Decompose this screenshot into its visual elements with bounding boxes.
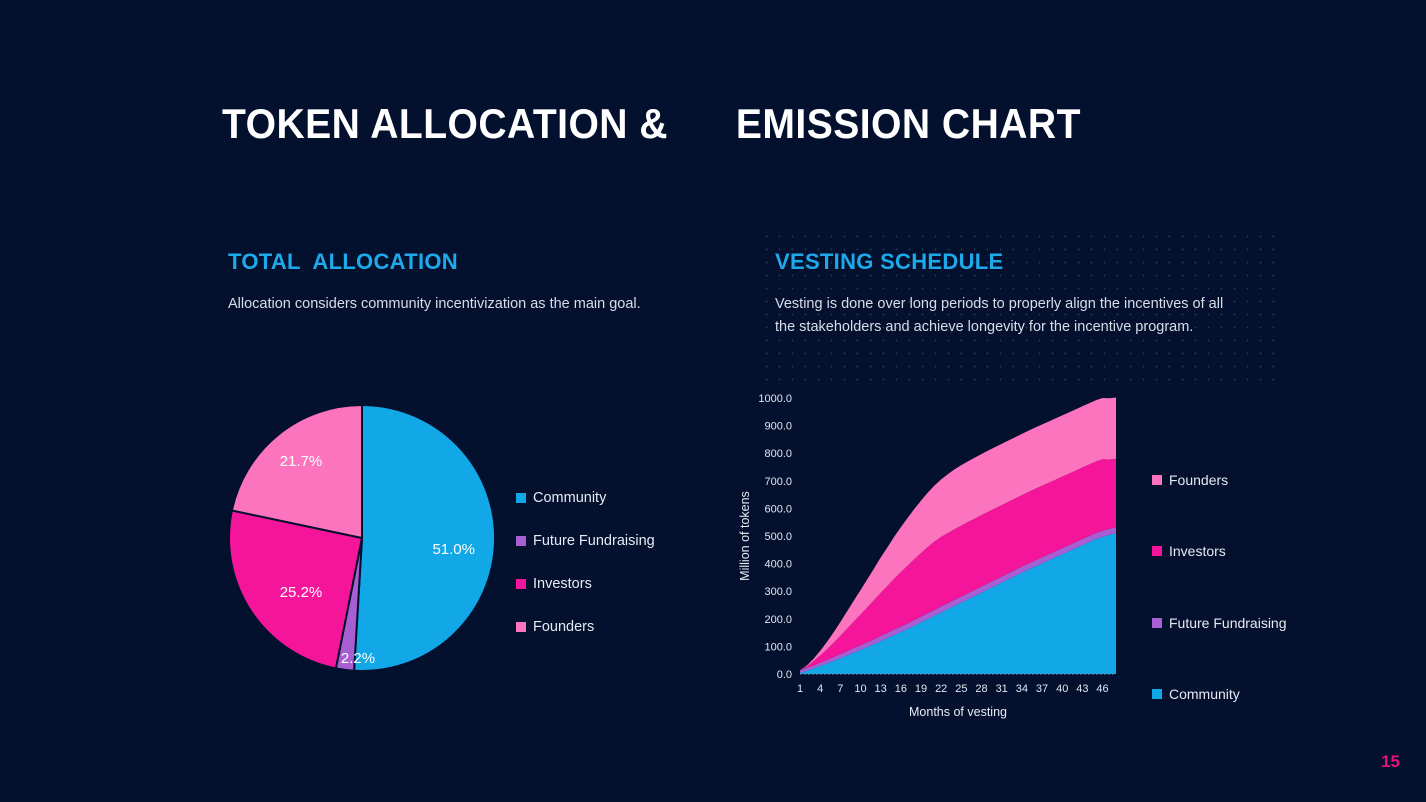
x-axis-tick-label: 1 (797, 683, 803, 695)
x-axis-tick-label: 16 (895, 683, 907, 695)
pie-legend-item: Founders (516, 605, 696, 648)
x-axis-tick-label: 22 (935, 683, 947, 695)
x-axis-tick-label: 37 (1036, 683, 1048, 695)
y-axis-tick-label: 100.0 (764, 641, 792, 653)
vesting-schedule-heading: VESTING SCHEDULE (775, 249, 1004, 275)
vesting-chart-legend: FoundersInvestorsFuture FundraisingCommu… (1152, 444, 1342, 730)
x-axis-tick-label: 46 (1096, 683, 1108, 695)
area-legend-label: Community (1169, 686, 1240, 702)
x-axis-tick-label: 43 (1076, 683, 1088, 695)
area-legend-label: Future Fundraising (1169, 615, 1287, 631)
y-axis-tick-label: 200.0 (764, 614, 792, 626)
legend-swatch-icon (516, 579, 526, 589)
x-axis-tick-label: 34 (1016, 683, 1028, 695)
vesting-area-chart-svg: 0.0100.0200.0300.0400.0500.0600.0700.080… (735, 386, 1135, 726)
x-axis-tick-label: 7 (837, 683, 843, 695)
y-axis-tick-label: 600.0 (764, 503, 792, 515)
page-number: 15 (1381, 752, 1400, 772)
legend-swatch-icon (1152, 618, 1162, 628)
pie-slice-label-founders: 21.7% (280, 453, 323, 470)
pie-slice-label-community: 51.0% (432, 541, 475, 558)
y-axis-tick-label: 0.0 (777, 669, 792, 681)
pie-chart-legend: CommunityFuture FundraisingInvestorsFoun… (516, 476, 696, 648)
pie-legend-label: Future Fundraising (533, 533, 655, 549)
pie-legend-label: Investors (533, 576, 592, 592)
area-legend-label: Founders (1169, 472, 1228, 488)
area-legend-item: Community (1152, 659, 1342, 731)
y-axis-tick-label: 700.0 (764, 476, 792, 488)
area-legend-item: Future Fundraising (1152, 587, 1342, 659)
pie-chart: 51.0%2.2%25.2%21.7% (228, 398, 496, 678)
pie-chart-svg: 51.0%2.2%25.2%21.7% (228, 398, 496, 678)
x-axis-tick-label: 28 (975, 683, 987, 695)
total-allocation-description: Allocation considers community incentivi… (228, 293, 643, 316)
total-allocation-heading: TOTAL ALLOCATION (228, 249, 458, 275)
y-axis-title: Million of tokens (738, 491, 752, 581)
page-title: TOKEN ALLOCATION & EMISSION CHART (222, 100, 1081, 148)
y-axis-tick-label: 800.0 (764, 448, 792, 460)
x-axis-tick-label: 31 (996, 683, 1008, 695)
x-axis-title: Months of vesting (909, 705, 1007, 719)
pie-legend-item: Community (516, 476, 696, 519)
pie-slice-label-investors: 25.2% (280, 584, 323, 601)
y-axis-tick-label: 400.0 (764, 559, 792, 571)
y-axis-tick-label: 500.0 (764, 531, 792, 543)
legend-swatch-icon (1152, 475, 1162, 485)
area-legend-item: Investors (1152, 516, 1342, 588)
area-legend-item: Founders (1152, 444, 1342, 516)
x-axis-tick-label: 25 (955, 683, 967, 695)
legend-swatch-icon (1152, 546, 1162, 556)
pie-legend-label: Community (533, 490, 606, 506)
legend-swatch-icon (1152, 689, 1162, 699)
x-axis-tick-label: 10 (854, 683, 866, 695)
x-axis-tick-label: 13 (875, 683, 887, 695)
vesting-area-chart: 0.0100.0200.0300.0400.0500.0600.0700.080… (735, 386, 1135, 726)
area-legend-label: Investors (1169, 543, 1226, 559)
x-axis-tick-label: 19 (915, 683, 927, 695)
vesting-schedule-description: Vesting is done over long periods to pro… (775, 293, 1225, 339)
pie-legend-item: Investors (516, 562, 696, 605)
slide-root: TOKEN ALLOCATION & EMISSION CHART TOTAL … (0, 0, 1426, 802)
pie-slice-label-future-fundraising: 2.2% (341, 650, 375, 667)
legend-swatch-icon (516, 493, 526, 503)
pie-slice-community (354, 405, 495, 671)
pie-legend-label: Founders (533, 619, 594, 635)
y-axis-tick-label: 900.0 (764, 421, 792, 433)
y-axis-tick-label: 300.0 (764, 586, 792, 598)
legend-swatch-icon (516, 622, 526, 632)
x-axis-tick-label: 4 (817, 683, 823, 695)
pie-legend-item: Future Fundraising (516, 519, 696, 562)
x-axis-tick-label: 40 (1056, 683, 1068, 695)
y-axis-tick-label: 1000.0 (758, 393, 792, 405)
legend-swatch-icon (516, 536, 526, 546)
